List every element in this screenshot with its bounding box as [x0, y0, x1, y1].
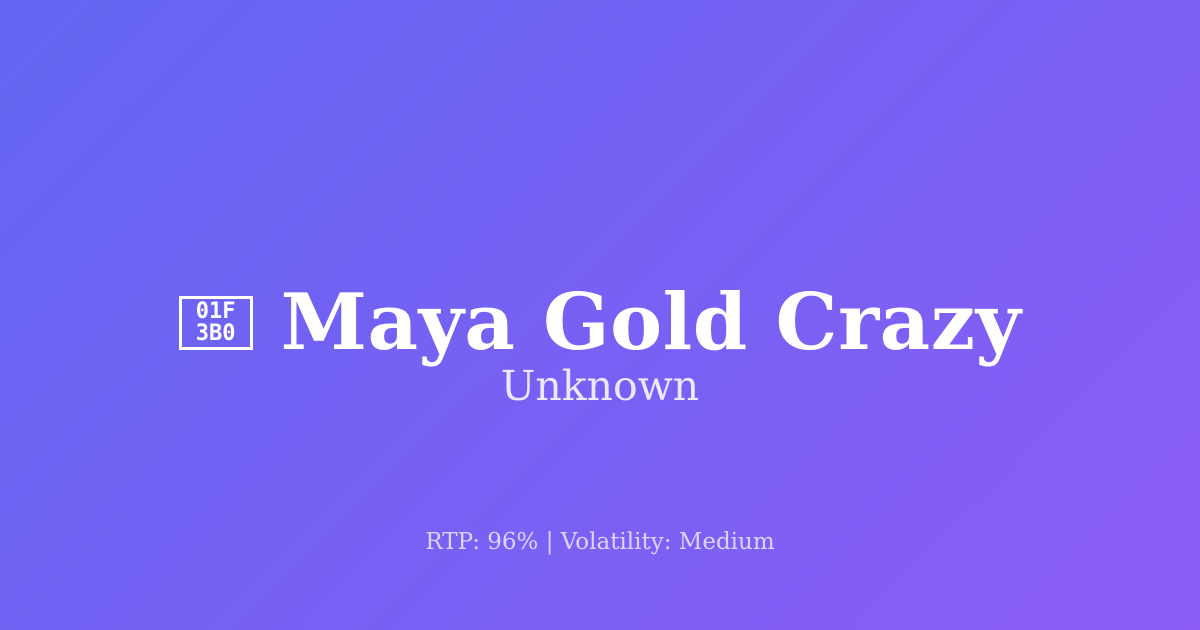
slot-machine-icon: 01F 3B0 — [179, 296, 253, 350]
page-title: Maya Gold Crazy — [281, 284, 1022, 362]
game-preview-card: 01F 3B0 Maya Gold Crazy Unknown RTP: 96%… — [0, 0, 1200, 630]
game-stats: RTP: 96% | Volatility: Medium — [0, 528, 1200, 557]
tofu-glyph: 01F 3B0 — [196, 301, 236, 346]
tofu-codepoint-top: 01F — [196, 301, 236, 323]
provider-label: Unknown — [0, 362, 1200, 411]
tofu-codepoint-bottom: 3B0 — [196, 323, 236, 345]
